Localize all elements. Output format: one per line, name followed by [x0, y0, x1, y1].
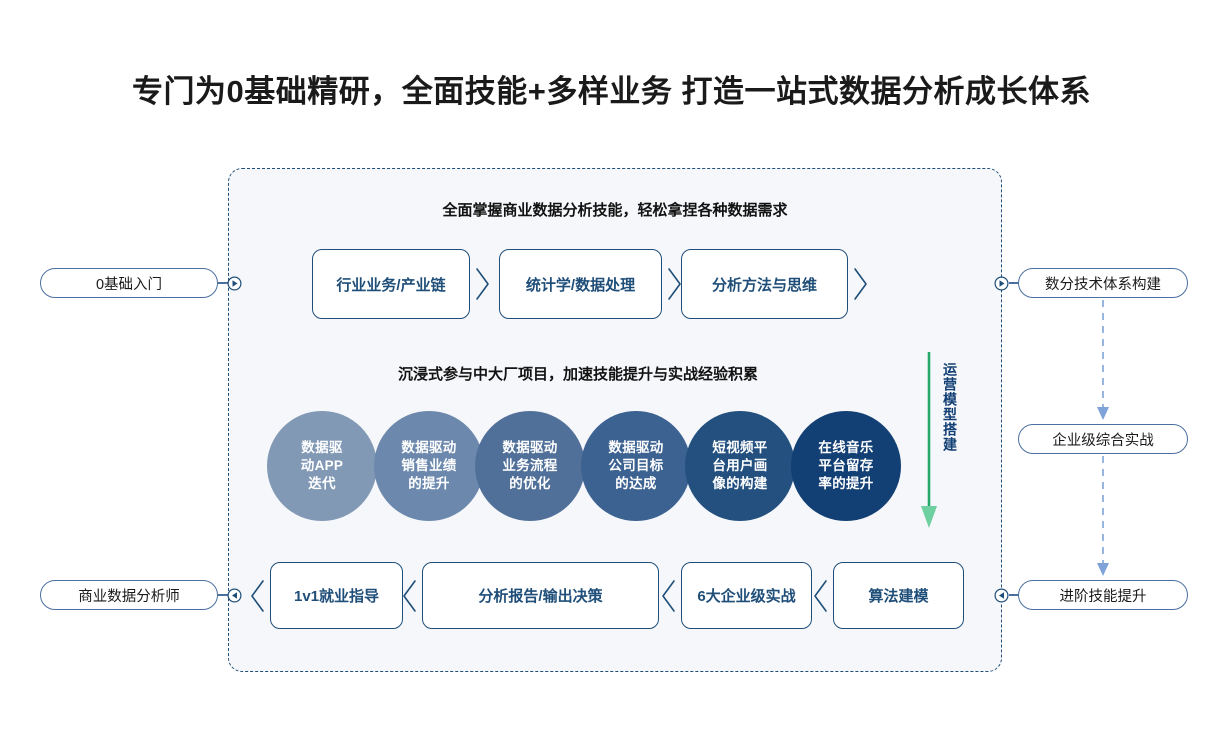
skill-box-label: 统计学/数据处理 [526, 274, 635, 295]
skill-box-label: 分析方法与思维 [712, 274, 817, 295]
project-circle-5[interactable]: 短视频平台用户画像的构建 [685, 411, 795, 521]
project-circle-label: 数据驱动业务流程的优化 [496, 439, 563, 492]
right-label-advanced-skills[interactable]: 进阶技能提升 [1018, 580, 1188, 610]
project-circle-label: 数据驱动公司目标的达成 [602, 439, 669, 492]
skill-box-3[interactable]: 分析方法与思维 [681, 249, 848, 319]
pill-text: 进阶技能提升 [1060, 585, 1147, 606]
outcome-box-label: 分析报告/输出决策 [478, 585, 602, 606]
pill-text: 商业数据分析师 [78, 585, 180, 606]
arrow-left-icon [994, 588, 1009, 603]
arrow-left-icon [227, 588, 242, 603]
left-label-entry[interactable]: 0基础入门 [40, 268, 218, 298]
right-label-tech-system[interactable]: 数分技术体系构建 [1018, 268, 1188, 298]
outcome-box-label: 6大企业级实战 [697, 585, 795, 606]
pill-text: 数分技术体系构建 [1045, 273, 1161, 294]
project-circle-3[interactable]: 数据驱动业务流程的优化 [475, 411, 585, 521]
outcome-box-3[interactable]: 6大企业级实战 [681, 562, 812, 629]
operations-model-label: 运营模型搭建 [938, 362, 960, 452]
flow-arrow-down-2 [1096, 456, 1110, 576]
skill-box-label: 行业业务/产业链 [336, 274, 445, 295]
right-label-enterprise-practice[interactable]: 企业级综合实战 [1018, 424, 1188, 454]
pill-text: 0基础入门 [96, 273, 162, 294]
outcome-box-4[interactable]: 算法建模 [833, 562, 964, 629]
outcome-box-1[interactable]: 1v1就业指导 [270, 562, 403, 629]
left-label-analyst[interactable]: 商业数据分析师 [40, 580, 218, 610]
operations-model-arrow [920, 352, 938, 530]
skill-box-2[interactable]: 统计学/数据处理 [499, 249, 662, 319]
project-circle-label: 数据驱动销售业绩的提升 [395, 439, 462, 492]
flow-arrow-down-1 [1096, 300, 1110, 420]
outcome-box-2[interactable]: 分析报告/输出决策 [422, 562, 659, 629]
page-title: 专门为0基础精研，全面技能+多样业务 打造一站式数据分析成长体系 [0, 66, 1223, 111]
project-circle-2[interactable]: 数据驱动销售业绩的提升 [374, 411, 484, 521]
project-circle-6[interactable]: 在线音乐平台留存率的提升 [791, 411, 901, 521]
section-heading-skills: 全面掌握商业数据分析技能，轻松拿捏各种数据需求 [228, 199, 1002, 220]
project-circle-4[interactable]: 数据驱动公司目标的达成 [581, 411, 691, 521]
project-circle-label: 数据驱动APP迭代 [295, 439, 349, 492]
section-heading-projects: 沉浸式参与中大厂项目，加速技能提升与实战经验积累 [228, 363, 928, 384]
outcome-box-label: 算法建模 [868, 585, 928, 606]
connector-line [1009, 594, 1019, 595]
pill-text: 企业级综合实战 [1052, 429, 1154, 450]
project-circle-label: 短视频平台用户画像的构建 [706, 439, 773, 492]
project-circle-1[interactable]: 数据驱动APP迭代 [267, 411, 377, 521]
diagram-canvas: 专门为0基础精研，全面技能+多样业务 打造一站式数据分析成长体系 全面掌握商业数… [0, 0, 1223, 750]
arrow-right-icon [994, 276, 1009, 291]
project-circle-label: 在线音乐平台留存率的提升 [812, 439, 879, 492]
outcome-box-label: 1v1就业指导 [294, 585, 379, 606]
skill-box-1[interactable]: 行业业务/产业链 [312, 249, 470, 319]
arrow-right-icon [227, 276, 242, 291]
connector-line [1009, 282, 1019, 283]
